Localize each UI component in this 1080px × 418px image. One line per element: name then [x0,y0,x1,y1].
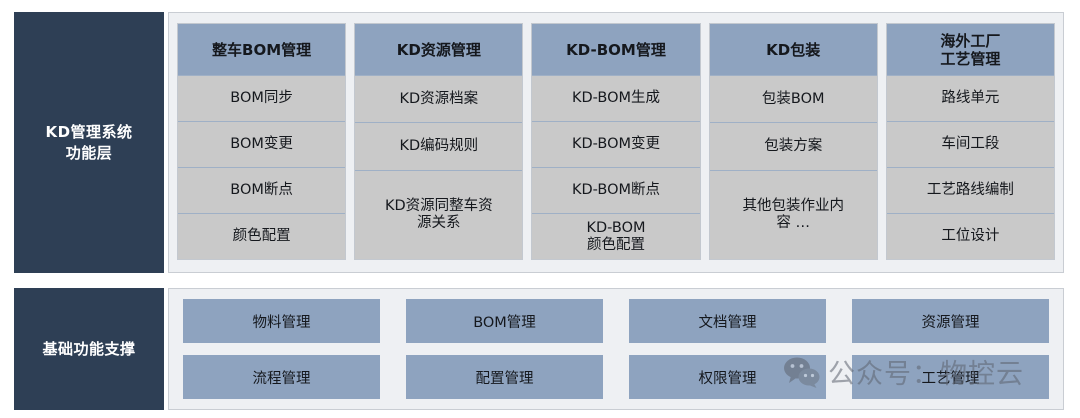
module-item[interactable]: 其他包装作业内 容 … [710,170,877,260]
module-item-list: KD资源档案 KD编码规则 KD资源同整车资 源关系 [355,76,522,259]
support-chip-craft[interactable]: 工艺管理 [852,355,1049,399]
module-item[interactable]: KD资源同整车资 源关系 [355,170,522,260]
band-label-base-function-support: 基础功能支撑 [14,288,164,410]
module-column-kd-packaging[interactable]: KD包装 包装BOM 包装方案 其他包装作业内 [709,23,878,260]
support-chip-bom[interactable]: BOM管理 [406,299,603,343]
module-item[interactable]: 包装BOM [710,76,877,122]
module-item[interactable]: 车间工段 [887,121,1054,167]
module-item[interactable]: BOM断点 [178,167,345,213]
support-panel: 物料管理 BOM管理 文档管理 资源管理 流程管理 配置管理 权限管理 工艺管理 [168,288,1064,410]
module-item[interactable]: BOM同步 [178,76,345,121]
module-column-kd-resource[interactable]: KD资源管理 KD资源档案 KD编码规则 KD资源同整车 [354,23,523,260]
support-chip-resource[interactable]: 资源管理 [852,299,1049,343]
support-chip-grid: 物料管理 BOM管理 文档管理 资源管理 流程管理 配置管理 权限管理 工艺管理 [169,289,1063,409]
module-header-line1: KD资源管理 [397,41,481,59]
module-item[interactable]: KD资源档案 [355,76,522,122]
module-column-header: KD包装 [710,24,877,76]
module-column-kd-bom[interactable]: KD-BOM管理 KD-BOM生成 KD-BOM变更 K [531,23,700,260]
band-label-line1: 基础功能支撑 [42,339,135,359]
module-column-vehicle-bom[interactable]: 整车BOM管理 BOM同步 BOM变更 BOM断点 [177,23,346,260]
module-column-overseas-plant-process[interactable]: 海外工厂 工艺管理 路线单元 车间工段 工艺路线编制 [886,23,1055,260]
support-chip-material[interactable]: 物料管理 [183,299,380,343]
support-chip-configuration[interactable]: 配置管理 [406,355,603,399]
module-column-header: 海外工厂 工艺管理 [887,24,1054,76]
module-header-line1: 整车BOM管理 [212,41,311,59]
module-column-header: KD资源管理 [355,24,522,76]
module-item[interactable]: 路线单元 [887,76,1054,121]
module-item[interactable]: KD编码规则 [355,122,522,169]
module-column-header: 整车BOM管理 [178,24,345,76]
kd-modules-panel: 整车BOM管理 BOM同步 BOM变更 BOM断点 [168,12,1064,273]
module-header-line1: 海外工厂 [940,32,1000,50]
band-label-kd-function-layer: KD管理系统 功能层 [14,12,164,273]
support-chip-permission[interactable]: 权限管理 [629,355,826,399]
support-chip-process-flow[interactable]: 流程管理 [183,355,380,399]
module-item[interactable]: KD-BOM 颜色配置 [532,213,699,259]
module-header-line2: 工艺管理 [940,50,1000,68]
band-label-line2: 功能层 [45,143,132,163]
module-item[interactable]: 工位设计 [887,213,1054,259]
module-header-line1: KD包装 [766,41,820,59]
diagram-canvas: KD管理系统 功能层 整车BOM管理 BOM同步 [0,0,1080,418]
module-item[interactable]: BOM变更 [178,121,345,167]
module-column-header: KD-BOM管理 [532,24,699,76]
module-item-list: KD-BOM生成 KD-BOM变更 KD-BOM断点 KD-BOM [532,76,699,259]
band-label-line1: KD管理系统 [45,122,132,142]
module-item-list: 包装BOM 包装方案 其他包装作业内 容 … [710,76,877,259]
support-chip-document[interactable]: 文档管理 [629,299,826,343]
module-item-list: 路线单元 车间工段 工艺路线编制 工位设计 [887,76,1054,259]
kd-function-layer-band: KD管理系统 功能层 整车BOM管理 BOM同步 [14,12,1064,273]
base-function-support-band: 基础功能支撑 物料管理 BOM管理 文档管理 资源管理 流程管理 配置管理 权限… [14,288,1064,410]
module-column-list: 整车BOM管理 BOM同步 BOM变更 BOM断点 [169,13,1063,272]
module-item-list: BOM同步 BOM变更 BOM断点 颜色配置 [178,76,345,259]
module-item[interactable]: 工艺路线编制 [887,167,1054,213]
module-item[interactable]: KD-BOM断点 [532,167,699,213]
module-item[interactable]: 颜色配置 [178,213,345,259]
module-item[interactable]: 包装方案 [710,122,877,169]
module-item[interactable]: KD-BOM生成 [532,76,699,121]
module-item[interactable]: KD-BOM变更 [532,121,699,167]
module-header-line1: KD-BOM管理 [566,41,666,59]
